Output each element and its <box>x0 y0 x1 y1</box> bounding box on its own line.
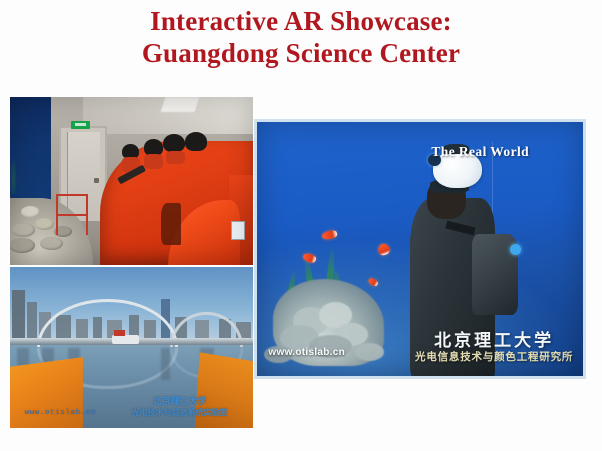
slide-canvas: Interactive AR Showcase: Guangdong Scien… <box>0 0 602 451</box>
skyline-tower <box>12 290 24 342</box>
rider-helmet <box>163 134 185 152</box>
coral-rock <box>355 343 384 361</box>
bridge-lab-name: 光电技术与信息系统实验室 <box>132 408 228 418</box>
photo-museum-ride <box>10 97 253 265</box>
photo-ar-real-world: The Real World www.otislab.cn 北京理工大学 光电信… <box>257 122 583 376</box>
safety-railing <box>56 194 88 234</box>
ar-lab-name: 光电信息技术与颜色工程研究所 <box>415 351 573 364</box>
bridge-watermark-org: 北京理工大学 光电技术与信息系统实验室 <box>132 396 228 418</box>
aquarium-plant <box>10 157 16 194</box>
photo-city-bridge: www.otislab.cn 北京理工大学 光电技术与信息系统实验室 <box>10 267 253 428</box>
boat <box>112 335 139 345</box>
rock <box>40 237 63 250</box>
rock <box>12 223 35 236</box>
bridge-watermark-url: www.otislab.cn <box>25 409 96 417</box>
ar-overlay-caption: The Real World <box>431 144 529 160</box>
ceiling-light <box>161 97 200 112</box>
ar-org-name: 北京理工大学 <box>415 330 573 351</box>
skyline-tower <box>27 302 37 341</box>
rock <box>10 238 35 253</box>
rider-body <box>166 151 185 164</box>
reflection-tower <box>161 348 171 380</box>
ar-watermark-url: www.otislab.cn <box>268 347 345 358</box>
rider-body <box>144 154 163 169</box>
photo-ar-frame: The Real World www.otislab.cn 北京理工大学 光电信… <box>254 119 586 379</box>
ar-watermark-org: 北京理工大学 光电信息技术与颜色工程研究所 <box>415 330 573 364</box>
title-line-2: Guangdong Science Center <box>0 38 602 70</box>
page-title: Interactive AR Showcase: Guangdong Scien… <box>0 6 602 70</box>
bridge-org-name: 北京理工大学 <box>132 396 228 408</box>
rock <box>21 206 40 218</box>
title-line-1: Interactive AR Showcase: <box>0 6 602 38</box>
ride-seat-well <box>161 203 181 245</box>
rock <box>35 218 54 230</box>
orange-panel-left <box>10 357 83 428</box>
exit-sign-icon <box>71 121 90 129</box>
control-panel <box>231 221 245 240</box>
door-handle <box>94 178 99 183</box>
rider-helmet <box>185 132 207 150</box>
